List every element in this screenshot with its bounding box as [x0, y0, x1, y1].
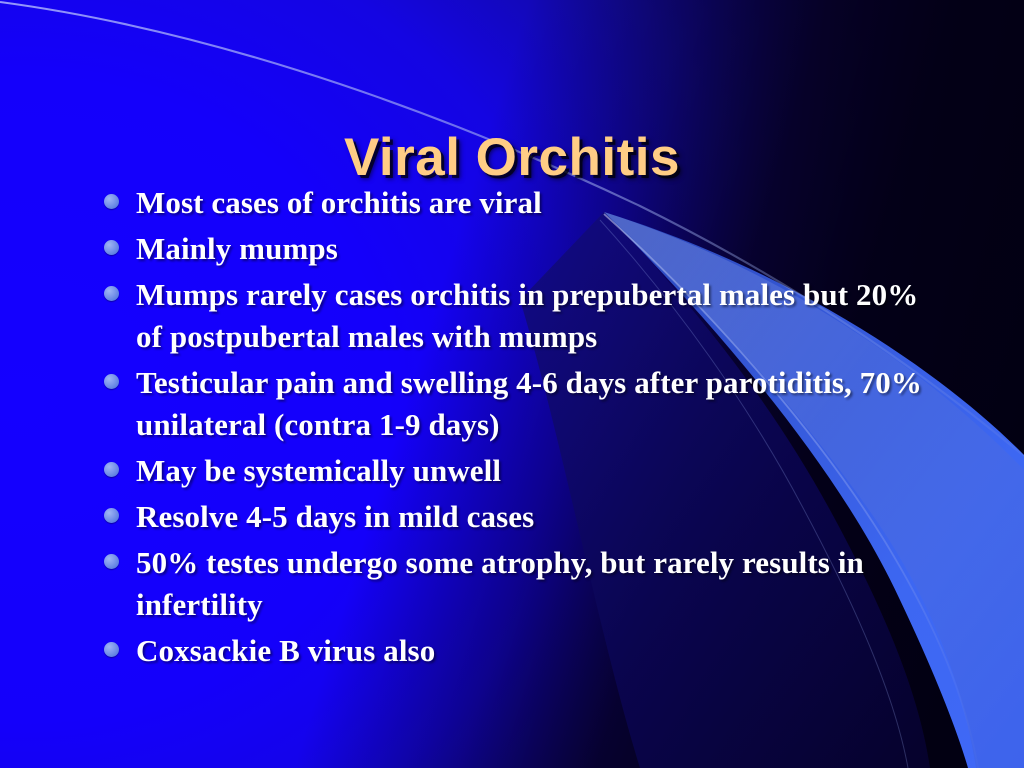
list-item: 50% testes undergo some atrophy, but rar…: [104, 542, 934, 626]
list-item-text: Testicular pain and swelling 4-6 days af…: [136, 362, 934, 446]
bullet-dot-icon: [104, 642, 119, 657]
list-item: Resolve 4-5 days in mild cases: [104, 496, 934, 538]
bullet-dot-icon: [104, 554, 119, 569]
list-item: Mainly mumps: [104, 228, 934, 270]
list-item: Coxsackie B virus also: [104, 630, 934, 672]
slide-bullet-list: Most cases of orchitis are viral Mainly …: [104, 182, 934, 676]
list-item-text: Mainly mumps: [136, 228, 934, 270]
list-item: Most cases of orchitis are viral: [104, 182, 934, 224]
list-item-text: Most cases of orchitis are viral: [136, 182, 934, 224]
page-title: Viral Orchitis: [344, 130, 680, 186]
list-item-text: Resolve 4-5 days in mild cases: [136, 496, 934, 538]
list-item-text: 50% testes undergo some atrophy, but rar…: [136, 542, 934, 626]
list-item: Mumps rarely cases orchitis in prepubert…: [104, 274, 934, 358]
bullet-dot-icon: [104, 286, 119, 301]
bullet-dot-icon: [104, 462, 119, 477]
list-item: May be systemically unwell: [104, 450, 934, 492]
bullet-dot-icon: [104, 240, 119, 255]
bullet-dot-icon: [104, 194, 119, 209]
list-item-text: May be systemically unwell: [136, 450, 934, 492]
presentation-slide: Viral Orchitis Most cases of orchitis ar…: [0, 0, 1024, 768]
bullet-dot-icon: [104, 374, 119, 389]
bullet-dot-icon: [104, 508, 119, 523]
list-item-text: Coxsackie B virus also: [136, 630, 934, 672]
list-item-text: Mumps rarely cases orchitis in prepubert…: [136, 274, 934, 358]
list-item: Testicular pain and swelling 4-6 days af…: [104, 362, 934, 446]
